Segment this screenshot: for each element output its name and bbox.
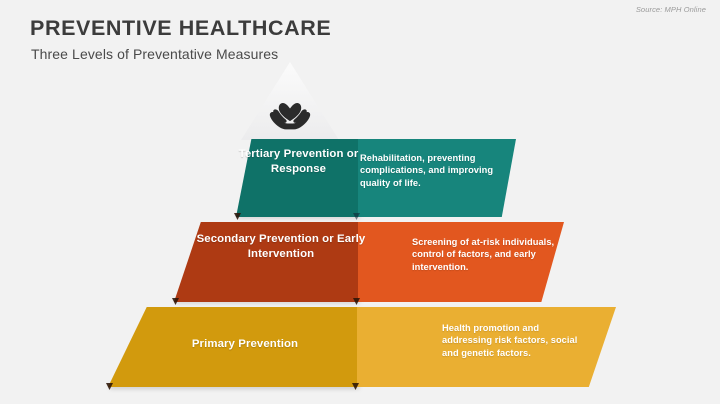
pyramid-diagram: Tertiary Prevention or Response Rehabili… bbox=[0, 0, 720, 404]
tertiary-level-label: Tertiary Prevention or Response bbox=[236, 147, 361, 177]
hands-holding-heart-icon bbox=[266, 88, 314, 134]
secondary-level-description: Screening of at-risk individuals, contro… bbox=[412, 236, 562, 273]
primary-level-label: Primary Prevention bbox=[135, 337, 355, 352]
slide-canvas: Source: MPH Online PREVENTIVE HEALTHCARE… bbox=[0, 0, 720, 404]
primary-level-description: Health promotion and addressing risk fac… bbox=[442, 322, 587, 359]
tertiary-level-description: Rehabilitation, preventing complications… bbox=[360, 152, 508, 189]
secondary-level-label: Secondary Prevention or Early Interventi… bbox=[191, 232, 371, 262]
